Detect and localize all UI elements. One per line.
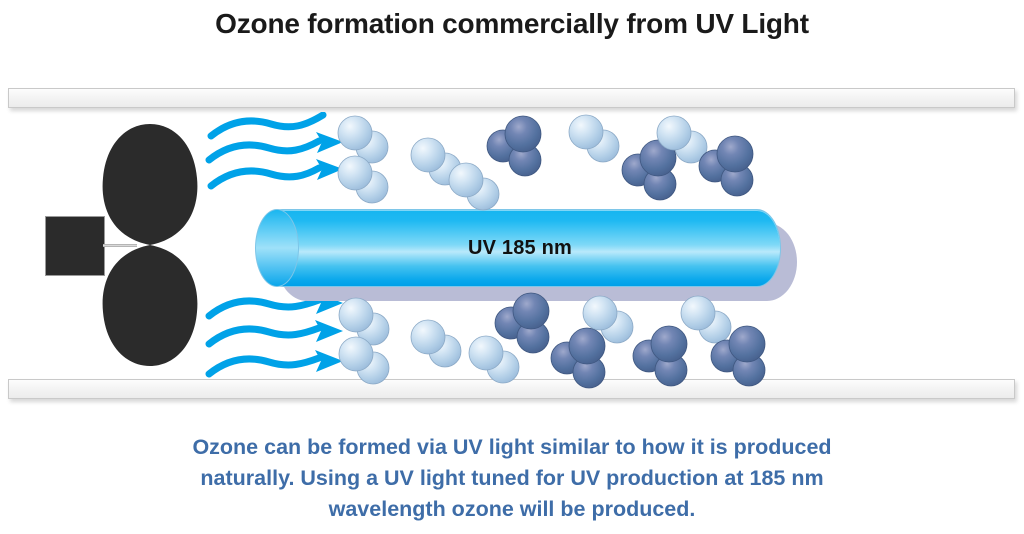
molecule-o3 [711, 326, 765, 386]
fan-assembly [45, 120, 205, 370]
uv-lamp: UV 185 nm [255, 205, 800, 305]
caption-line-1: Ozone can be formed via UV light similar… [122, 432, 902, 463]
molecule-o2 [657, 116, 707, 163]
molecule-o2 [411, 138, 461, 185]
duct-wall-bottom [8, 379, 1015, 399]
diagram-stage: Ozone formation commercially from UV Lig… [0, 0, 1024, 534]
page-title: Ozone formation commercially from UV Lig… [0, 8, 1024, 40]
airflow-stream-icon [205, 112, 350, 192]
molecule-o3 [699, 136, 753, 196]
molecule-o2 [411, 320, 461, 367]
caption-line-3: wavelength ozone will be produced. [122, 494, 902, 525]
caption-text: Ozone can be formed via UV light similar… [122, 432, 902, 525]
uv-lamp-label: UV 185 nm [259, 209, 781, 287]
molecule-o3 [622, 140, 676, 200]
fan-blade-icon [95, 120, 205, 370]
molecule-o3 [633, 326, 687, 386]
duct-wall-top [8, 88, 1015, 108]
molecule-o2 [469, 336, 519, 383]
molecule-o2 [569, 115, 619, 162]
airflow-stream-icon [205, 296, 350, 384]
airflow-arrows-bottom [205, 296, 350, 389]
airflow-arrows-top [205, 112, 350, 197]
molecule-o2 [449, 163, 499, 210]
caption-line-2: naturally. Using a UV light tuned for UV… [122, 463, 902, 494]
molecule-o3 [487, 116, 541, 176]
